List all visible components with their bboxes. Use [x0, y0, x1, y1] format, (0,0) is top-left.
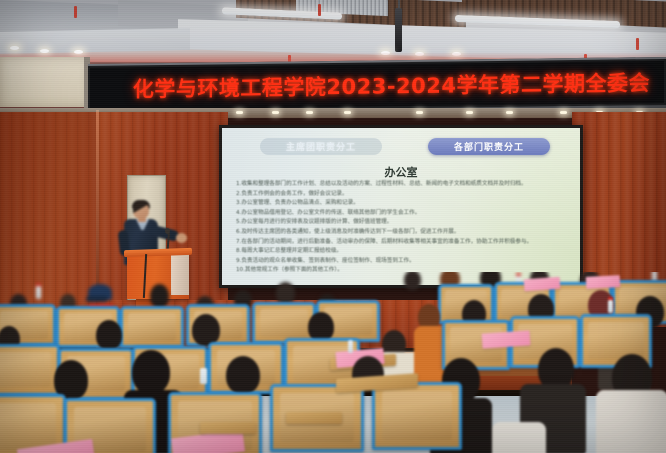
bottle-cap — [516, 273, 521, 276]
slide-surface: 主席团职责分工 各部门职责分工 办公室 1.收集和整理各部门的工作计划、总结以及… — [222, 128, 580, 285]
shelf-light-icon — [466, 111, 473, 114]
attendee-head — [132, 350, 170, 394]
shelf-light-icon — [236, 111, 243, 114]
slide-tab-bar: 主席团职责分工 各部门职责分工 — [222, 138, 580, 158]
folding-desk[interactable] — [286, 412, 342, 424]
attendee-head — [226, 356, 260, 394]
slide-line: 7.在各部门的活动期间，进行后勤准备、活动审办的保障、后期材料收集等相关事宜的准… — [236, 238, 570, 248]
slide-line: 8.每周大事记汇总整理并定期汇报给校级。 — [236, 247, 570, 257]
hanging-projector-icon — [395, 8, 402, 52]
sprinkler-head-icon — [74, 6, 77, 18]
auditorium-seat[interactable] — [120, 306, 184, 348]
recessed-downlight-icon — [10, 46, 19, 50]
shelf-light-icon — [344, 111, 351, 114]
slide-line: 1.收集和整理各部门的工作计划、总结以及活动的方案、过程性材料、总结、新闻的电子… — [236, 180, 570, 190]
led-display-banner: 化学与环境工程学院2023-2024学年第二学期全委会 — [88, 57, 666, 115]
auditorium-seat[interactable] — [372, 382, 462, 450]
slide-heading: 办公室 — [222, 164, 580, 180]
attendee-head — [96, 320, 122, 350]
speaker-hand — [176, 233, 187, 243]
slide-line: 4.办公室物品借用登记、办公室文件的传送、联络其他部门的学生会工作。 — [236, 209, 570, 219]
sprinkler-head-icon — [636, 38, 639, 50]
slide-line: 3.办公室管理、负责办公物品清点、采购和记录。 — [236, 199, 570, 209]
slide-line: 2.负责工作例会的会务工作，做好会议记录。 — [236, 190, 570, 200]
audience-area — [0, 272, 666, 453]
sprinkler-head-icon — [318, 4, 321, 16]
speaker-head — [133, 202, 149, 219]
bottle-cap — [36, 283, 41, 286]
attendee-torso — [596, 390, 666, 453]
auditorium-seat[interactable] — [0, 344, 60, 396]
ceiling-ledge-left — [0, 28, 190, 54]
shelf-light-icon — [560, 111, 567, 114]
water-bottle — [36, 286, 41, 299]
slide-line: 5.办公室每月进行的安排表及议题排版的计算、做好值班管理。 — [236, 218, 570, 228]
water-bottle — [348, 340, 353, 353]
slide-line: 9.负责活动的观众名单收集、签到表制作、座位签制作、现场签到工作。 — [236, 257, 570, 267]
microphone-icon — [165, 228, 170, 234]
shelf-light-icon — [506, 111, 513, 114]
projection-screen: 主席团职责分工 各部门职责分工 办公室 1.收集和整理各部门的工作计划、总结以及… — [219, 125, 583, 288]
attendee-head — [404, 272, 421, 290]
slide-tab-presidium: 主席团职责分工 — [260, 138, 382, 155]
shelf-light-icon — [306, 111, 313, 114]
bottle-cap — [608, 297, 613, 300]
handout-paper — [586, 275, 621, 289]
slide-body-text: 1.收集和整理各部门的工作计划、总结以及活动的方案、过程性材料、总结、新闻的电子… — [236, 180, 570, 276]
water-bottle — [608, 300, 613, 313]
attendee-head — [276, 282, 295, 304]
lecture-hall-photo: 化学与环境工程学院2023-2024学年第二学期全委会 主席团职责分工 各部门职… — [0, 0, 666, 453]
folding-desk[interactable] — [200, 422, 256, 434]
handout-paper — [524, 277, 561, 291]
wall-panel-beige — [0, 57, 90, 107]
attendee-torso — [492, 422, 546, 453]
attendee-head — [150, 284, 169, 308]
water-bottle — [200, 368, 207, 384]
shelf-light-icon — [416, 111, 423, 114]
slide-tab-departments: 各部门职责分工 — [428, 138, 550, 155]
slide-line: 6.及时传达主席团的各类通知，使上级消息及时准确传达到下一级各部门，促进工作开展… — [236, 228, 570, 238]
shelf-light-icon — [272, 111, 279, 114]
attendee-cap-brim — [86, 296, 108, 302]
led-banner-text: 化学与环境工程学院2023-2024学年第二学期全委会 — [133, 67, 650, 103]
